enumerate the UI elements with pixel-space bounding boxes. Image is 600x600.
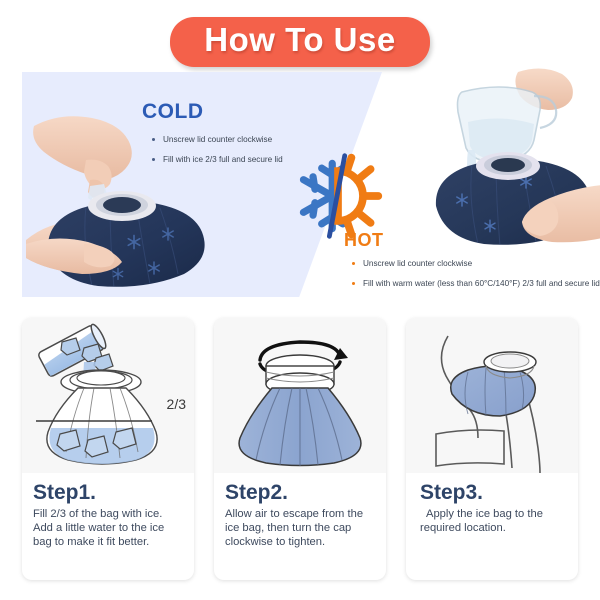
hot-photo (422, 66, 600, 266)
step-card-body: Step1. Fill 2/3 of the bag with ice. Add… (22, 473, 194, 549)
step2-illustration (214, 318, 386, 473)
step-card: Step3. Apply the ice bag to the required… (406, 318, 578, 580)
step-card-body: Step3. Apply the ice bag to the required… (406, 473, 578, 535)
header: How To Use (0, 0, 600, 67)
fill-level-label: 2/3 (167, 396, 186, 412)
step3-illustration (406, 318, 578, 473)
cold-bullet-item: Unscrew lid counter clockwise (150, 134, 283, 146)
title-banner: How To Use (170, 17, 429, 67)
step-title: Step1. (33, 481, 183, 504)
step-description: Apply the ice bag to the required locati… (420, 507, 567, 535)
step-card: Step2. Allow air to escape from the ice … (214, 318, 386, 580)
hot-bullet-list: Unscrew lid counter clockwise Fill with … (350, 258, 600, 298)
step-card: 2/3 Step1. Fill 2/3 of the bag with ice.… (22, 318, 194, 580)
step-description: Fill 2/3 of the bag with ice. Add a litt… (33, 507, 183, 549)
hero-banner: COLD Unscrew lid counter clockwise Fill … (22, 72, 578, 297)
step-title: Step3. (420, 481, 567, 504)
cold-heading: COLD (142, 100, 204, 124)
hot-bullet-item: Fill with warm water (less than 60°C/140… (350, 278, 600, 290)
step-card-body: Step2. Allow air to escape from the ice … (214, 473, 386, 549)
step-cards: 2/3 Step1. Fill 2/3 of the bag with ice.… (22, 318, 578, 580)
step1-illustration: 2/3 (22, 318, 194, 473)
step-description: Allow air to escape from the ice bag, th… (225, 507, 375, 549)
step-title: Step2. (225, 481, 375, 504)
hot-bullet-item: Unscrew lid counter clockwise (350, 258, 600, 270)
cold-bullet-list: Unscrew lid counter clockwise Fill with … (150, 134, 283, 174)
cold-bullet-item: Fill with ice 2/3 full and secure lid (150, 154, 283, 166)
page-title: How To Use (204, 22, 395, 59)
snowflake-sun-split-icon (290, 148, 386, 244)
cold-photo (26, 102, 241, 297)
